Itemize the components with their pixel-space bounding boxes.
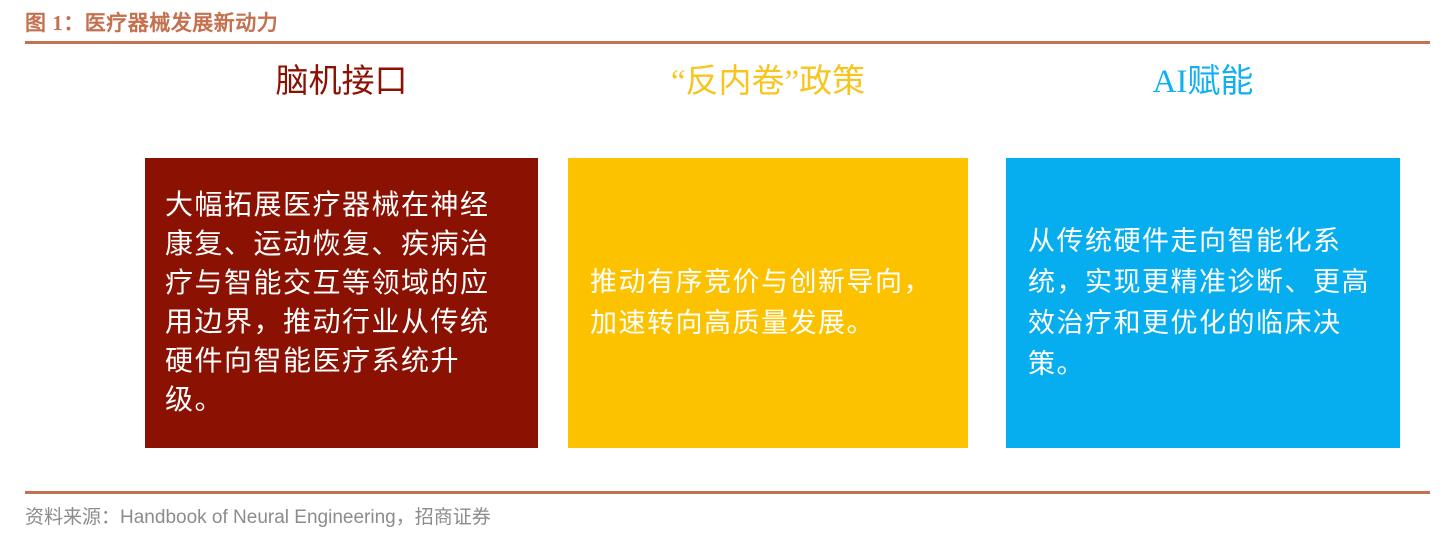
figure-title: 图 1：医疗器械发展新动力 xyxy=(25,7,278,37)
column-heading-ai: AI赋能 xyxy=(1006,60,1400,104)
content-text-ai: 从传统硬件走向智能化系统，实现更精准诊断、更高效治疗和更优化的临床决策。 xyxy=(1028,221,1378,385)
footer-rule xyxy=(25,491,1430,494)
content-text-policy: 推动有序竞价与创新导向，加速转向高质量发展。 xyxy=(590,262,946,344)
content-text-bci: 大幅拓展医疗器械在神经康复、运动恢复、疾病治疗与智能交互等领域的应用边界，推动行… xyxy=(165,186,518,420)
source-footer: 资料来源：Handbook of Neural Engineering，招商证券 xyxy=(25,504,491,532)
source-separator: ， xyxy=(396,507,415,528)
source-chinese: 招商证券 xyxy=(415,507,491,528)
column-heading-policy: “反内卷”政策 xyxy=(568,60,968,104)
header-rule xyxy=(25,41,1430,44)
figure-page: 图 1：医疗器械发展新动力 脑机接口 大幅拓展医疗器械在神经康复、运动恢复、疾病… xyxy=(0,0,1454,548)
source-label: 资料来源： xyxy=(25,507,120,528)
content-box-policy: 推动有序竞价与创新导向，加速转向高质量发展。 xyxy=(568,158,968,448)
source-english: Handbook of Neural Engineering xyxy=(120,507,396,528)
content-box-bci: 大幅拓展医疗器械在神经康复、运动恢复、疾病治疗与智能交互等领域的应用边界，推动行… xyxy=(145,158,538,448)
column-heading-bci: 脑机接口 xyxy=(145,60,538,104)
content-box-ai: 从传统硬件走向智能化系统，实现更精准诊断、更高效治疗和更优化的临床决策。 xyxy=(1006,158,1400,448)
